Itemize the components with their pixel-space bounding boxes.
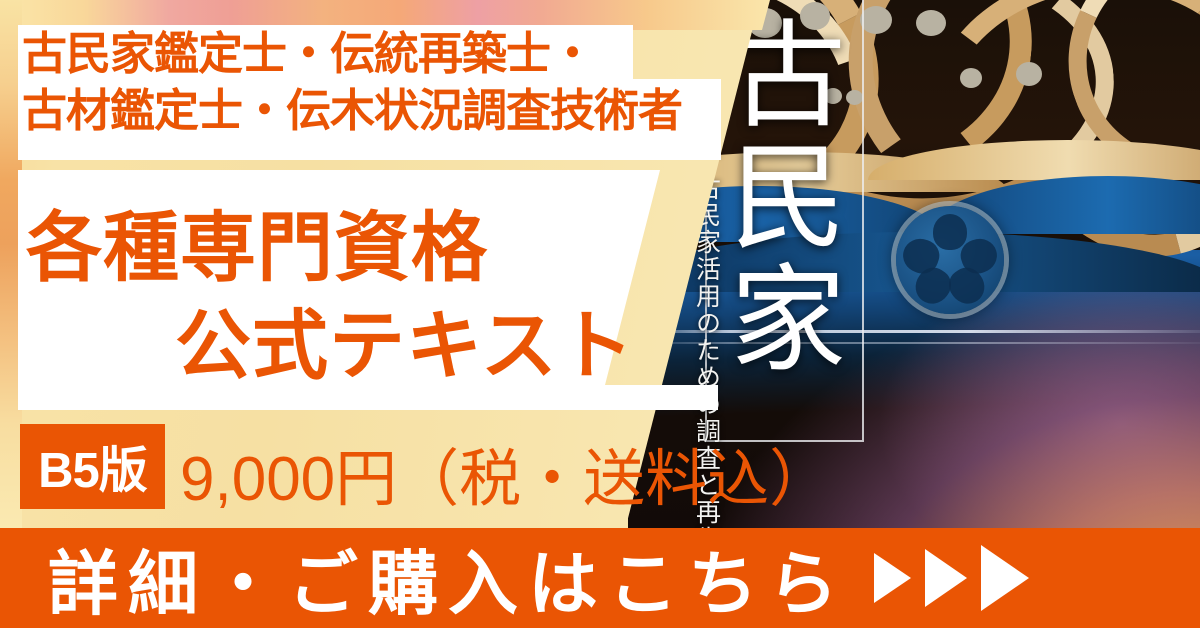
carving-bead <box>916 10 946 36</box>
carving-bead <box>960 68 982 88</box>
crest-petal <box>933 214 967 250</box>
cta-arrows <box>874 545 1029 611</box>
family-crest-icon <box>896 206 1004 314</box>
subtitle-line-2: 公式テキスト <box>175 284 635 394</box>
price-text: 9,000円（税・送料込） <box>180 428 831 518</box>
play-arrow-icon <box>981 545 1029 611</box>
format-badge: B5版 <box>20 424 165 509</box>
headline-text: 古民家鑑定士・伝統再築士・ 古材鑑定士・伝木状況調査技術者 <box>22 26 722 160</box>
subtitle-line-1: 各種専門資格 <box>26 186 488 296</box>
carving-bead <box>1016 62 1042 86</box>
carving-bead <box>860 6 892 34</box>
cta-bar[interactable]: 詳細・ご購入はこちら <box>0 528 1200 628</box>
play-arrow-icon <box>925 549 967 607</box>
promo-banner: 古民家 伝統構法、古民家活用のための調査と再生の 古民家鑑定士・伝統再築士・ 古… <box>0 0 1200 628</box>
play-arrow-icon <box>874 553 911 603</box>
cta-label: 詳細・ご購入はこちら <box>48 528 848 628</box>
